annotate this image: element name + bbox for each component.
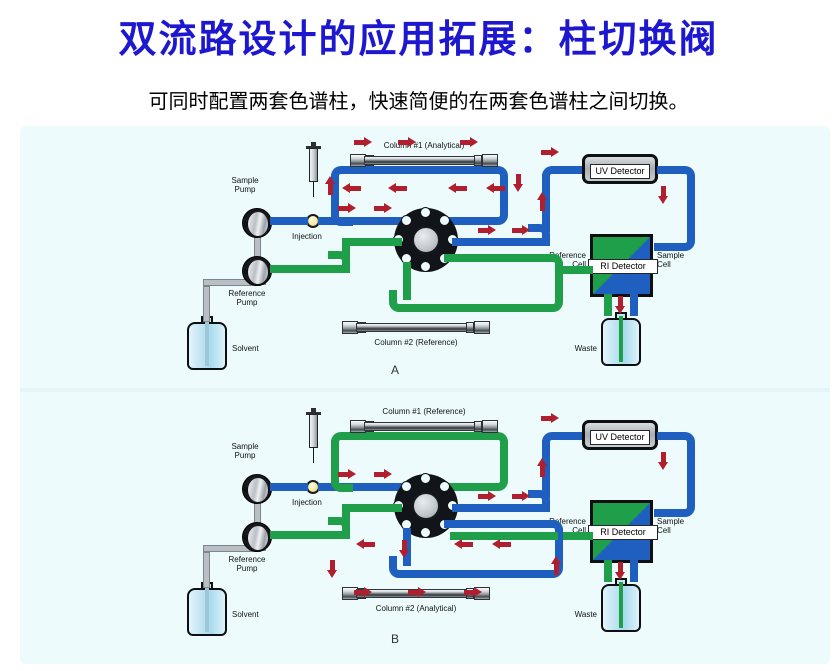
sample-pump-a <box>242 208 272 238</box>
solvent-label-a: Solvent <box>232 344 259 353</box>
syringe-needle <box>313 447 314 463</box>
bottle-dip-tube <box>619 316 623 362</box>
sample-line-into-ri-b <box>654 509 680 517</box>
column-ferrule-right <box>474 155 482 166</box>
valve-port <box>420 261 431 272</box>
uv-detector-b: UV Detector <box>582 420 658 450</box>
reference-line-into-ri-b <box>563 532 593 540</box>
reference-line-valve-to-ri-b <box>450 532 558 540</box>
page-title: 双流路设计的应用拓展：柱切换阀 <box>0 8 837 63</box>
sample-line-pump-to-injection-a <box>270 217 308 225</box>
flow-diagram-figure: Solvent Sample Pump Reference Pump <box>20 126 830 664</box>
syringe-barrel <box>309 414 318 448</box>
waste-label-b: Waste <box>551 610 597 619</box>
column-body <box>356 323 476 332</box>
column-fitting-right <box>482 420 498 433</box>
solvent-bottle-b <box>187 582 227 636</box>
pump-port-left <box>244 535 250 541</box>
sample-line-into-ri-a <box>654 243 680 251</box>
suction-line-vertical-a <box>203 286 210 322</box>
pump-port-left <box>244 221 250 227</box>
reference-line-valve-to-ri-a <box>444 254 556 262</box>
column-1-a <box>350 154 498 167</box>
page-subtitle: 可同时配置两套色谱柱，快速简便的在两套色谱柱之间切换。 <box>0 85 837 114</box>
sample-pump-label-b: Sample Pump <box>216 442 274 460</box>
syringe-needle <box>313 181 314 197</box>
sample-cell-label-b: Sample Cell <box>657 517 707 535</box>
reference-line-to-valve-a <box>348 238 402 246</box>
column-1-b <box>350 420 498 433</box>
bottle-dip-tube <box>205 320 209 366</box>
valve-port <box>420 473 431 484</box>
ri-detector-label: RI Detector <box>588 525 658 540</box>
column-ferrule-right <box>474 421 482 432</box>
bottle-dip-tube <box>619 582 623 628</box>
solvent-bottle-a <box>187 316 227 370</box>
valve-port <box>420 527 431 538</box>
syringe-b <box>306 408 321 464</box>
reference-line-to-valve-b <box>348 504 402 512</box>
slide-root: 双流路设计的应用拓展：柱切换阀 可同时配置两套色谱柱，快速简便的在两套色谱柱之间… <box>0 0 837 671</box>
bottle-dip-tube <box>205 586 209 632</box>
valve-port <box>439 481 450 492</box>
valve-port <box>439 215 450 226</box>
reference-pump-b <box>242 522 272 552</box>
sample-pump-b <box>242 474 272 504</box>
valve-port <box>401 215 412 226</box>
valve-hub <box>412 492 440 520</box>
reference-pump-label-b: Reference Pump <box>216 555 278 573</box>
column-2-label-b: Column #2 (Analytical) <box>336 604 496 613</box>
sample-line-pump-to-injection-b <box>270 483 308 491</box>
column-ferrule-right <box>466 322 474 333</box>
valve-port <box>401 481 412 492</box>
pump-port-left <box>244 269 250 275</box>
reference-line-above-column1-b <box>348 432 498 440</box>
column-1-label-b: Column #1 (Reference) <box>344 407 504 416</box>
syringe-barrel <box>309 148 318 182</box>
diagram-panel-b: Solvent Sample Pump Reference Pump <box>20 392 830 654</box>
panel-letter-a: A <box>380 363 410 377</box>
sample-line-above-column1-a <box>348 166 498 174</box>
sample-line-into-uv-b <box>558 432 584 440</box>
valve-port <box>420 207 431 218</box>
sample-cell-label-a: Sample Cell <box>657 251 707 269</box>
sample-line-into-uv-a <box>558 166 584 174</box>
sample-pump-label-a: Sample Pump <box>216 176 274 194</box>
column-fitting-right <box>482 154 498 167</box>
uv-detector-label: UV Detector <box>590 164 650 179</box>
solvent-label-b: Solvent <box>232 610 259 619</box>
ri-detector-b: RI Detector <box>590 500 653 563</box>
injection-label-b: Injection <box>292 498 322 507</box>
column-2-a <box>342 321 490 334</box>
uv-detector-a: UV Detector <box>582 154 658 184</box>
sample-line-above-column2-b <box>405 570 553 578</box>
ri-detector-a: RI Detector <box>590 234 653 297</box>
reference-line-above-column2-a <box>405 304 553 312</box>
injection-label-a: Injection <box>292 232 322 241</box>
diagram-panel-a: Solvent Sample Pump Reference Pump <box>20 126 830 388</box>
pump-port-left <box>244 487 250 493</box>
panel-letter-b: B <box>380 632 410 646</box>
column-fitting-right <box>474 321 490 334</box>
suction-line-vertical-b <box>203 552 210 588</box>
reference-pump-label-a: Reference Pump <box>216 289 278 307</box>
column-body <box>364 156 484 165</box>
waste-bottle-a <box>601 312 641 366</box>
reference-pump-a <box>242 256 272 286</box>
ri-detector-label: RI Detector <box>588 259 658 274</box>
column-2-label-a: Column #2 (Reference) <box>336 338 496 347</box>
waste-bottle-b <box>601 578 641 632</box>
syringe-a <box>306 142 321 198</box>
column-body <box>364 422 484 431</box>
reference-line-into-ri-a <box>563 266 593 274</box>
waste-label-a: Waste <box>551 344 597 353</box>
valve-hub <box>412 226 440 254</box>
sample-line-valve-lower-b <box>444 520 556 528</box>
uv-detector-label: UV Detector <box>590 430 650 445</box>
